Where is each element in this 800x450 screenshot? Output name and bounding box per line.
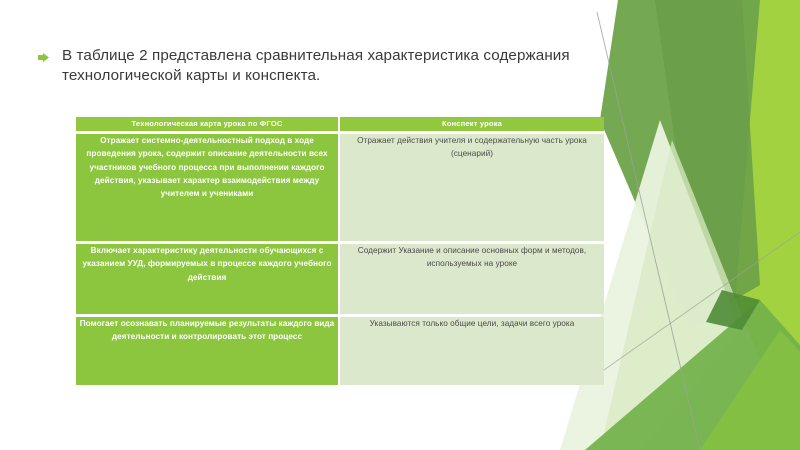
polygon-bright-right-2: [660, 0, 800, 450]
polygon-dark-wedge: [600, 0, 760, 330]
table-row: Отражает системно-деятельностный подход …: [76, 134, 604, 241]
table-header-row: Технологическая карта урока по ФГОС Конс…: [76, 117, 604, 131]
polygon-bright-right: [600, 0, 800, 450]
polygon-mid-bottom: [585, 300, 800, 450]
bullet-paragraph-text: В таблице 2 представлена сравнительная х…: [62, 46, 578, 87]
table-row: Помогает осознавать планируемые результа…: [76, 317, 604, 385]
hairline-diagonal-2: [604, 232, 800, 370]
polygon-dark-wedge-2: [655, 0, 760, 320]
bullet-paragraph-block: В таблице 2 представлена сравнительная х…: [38, 46, 578, 87]
table-cell-left: Включает характеристику деятельности обу…: [76, 244, 338, 314]
polygon-deep-accent: [706, 290, 760, 330]
table-cell-left: Отражает системно-деятельностный подход …: [76, 134, 338, 241]
polygon-mid-bottom-2: [700, 330, 800, 450]
table-cell-right: Указываются только общие цели, задачи вс…: [340, 317, 604, 385]
table-header-left: Технологическая карта урока по ФГОС: [76, 117, 338, 131]
comparison-table: Технологическая карта урока по ФГОС Конс…: [74, 114, 606, 388]
table-header-right: Конспект урока: [340, 117, 604, 131]
table-cell-left: Помогает осознавать планируемые результа…: [76, 317, 338, 385]
polygon-pale-sheet-2: [600, 140, 760, 450]
hairline-diagonal-1: [597, 12, 700, 450]
arrow-bullet-icon: [38, 53, 49, 62]
table-cell-right: Содержит Указание и описание основных фо…: [340, 244, 604, 314]
table-row: Включает характеристику деятельности обу…: [76, 244, 604, 314]
table-cell-right: Отражает действия учителя и содержательн…: [340, 134, 604, 241]
slide-canvas: В таблице 2 представлена сравнительная х…: [0, 0, 800, 450]
